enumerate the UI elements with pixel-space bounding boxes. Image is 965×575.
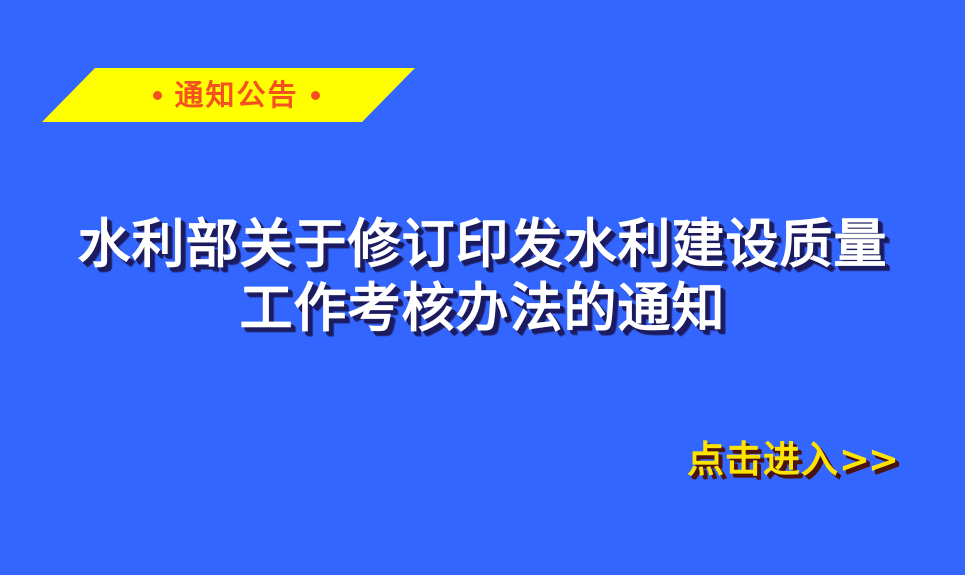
notice-banner-slide: 通知公告 水利部关于修订印发水利建设质量 工作考核办法的通知 点击进入>> [0, 0, 965, 575]
bullet-dot-left-icon [153, 91, 162, 100]
headline-line-1: 水利部关于修订印发水利建设质量 [0, 212, 965, 276]
headline-title: 水利部关于修订印发水利建设质量 工作考核办法的通知 [0, 212, 965, 340]
section-tag-label-group: 通知公告 [42, 68, 415, 122]
section-tag-banner: 通知公告 [42, 68, 415, 122]
section-tag-text: 通知公告 [174, 81, 298, 110]
enter-link-label[interactable]: 点击进入 [687, 437, 839, 481]
double-chevron-right-icon[interactable]: >> [839, 438, 897, 481]
bullet-dot-right-icon [311, 91, 320, 100]
enter-link[interactable]: 点击进入>> [0, 436, 965, 483]
headline-line-2: 工作考核办法的通知 [0, 276, 965, 340]
